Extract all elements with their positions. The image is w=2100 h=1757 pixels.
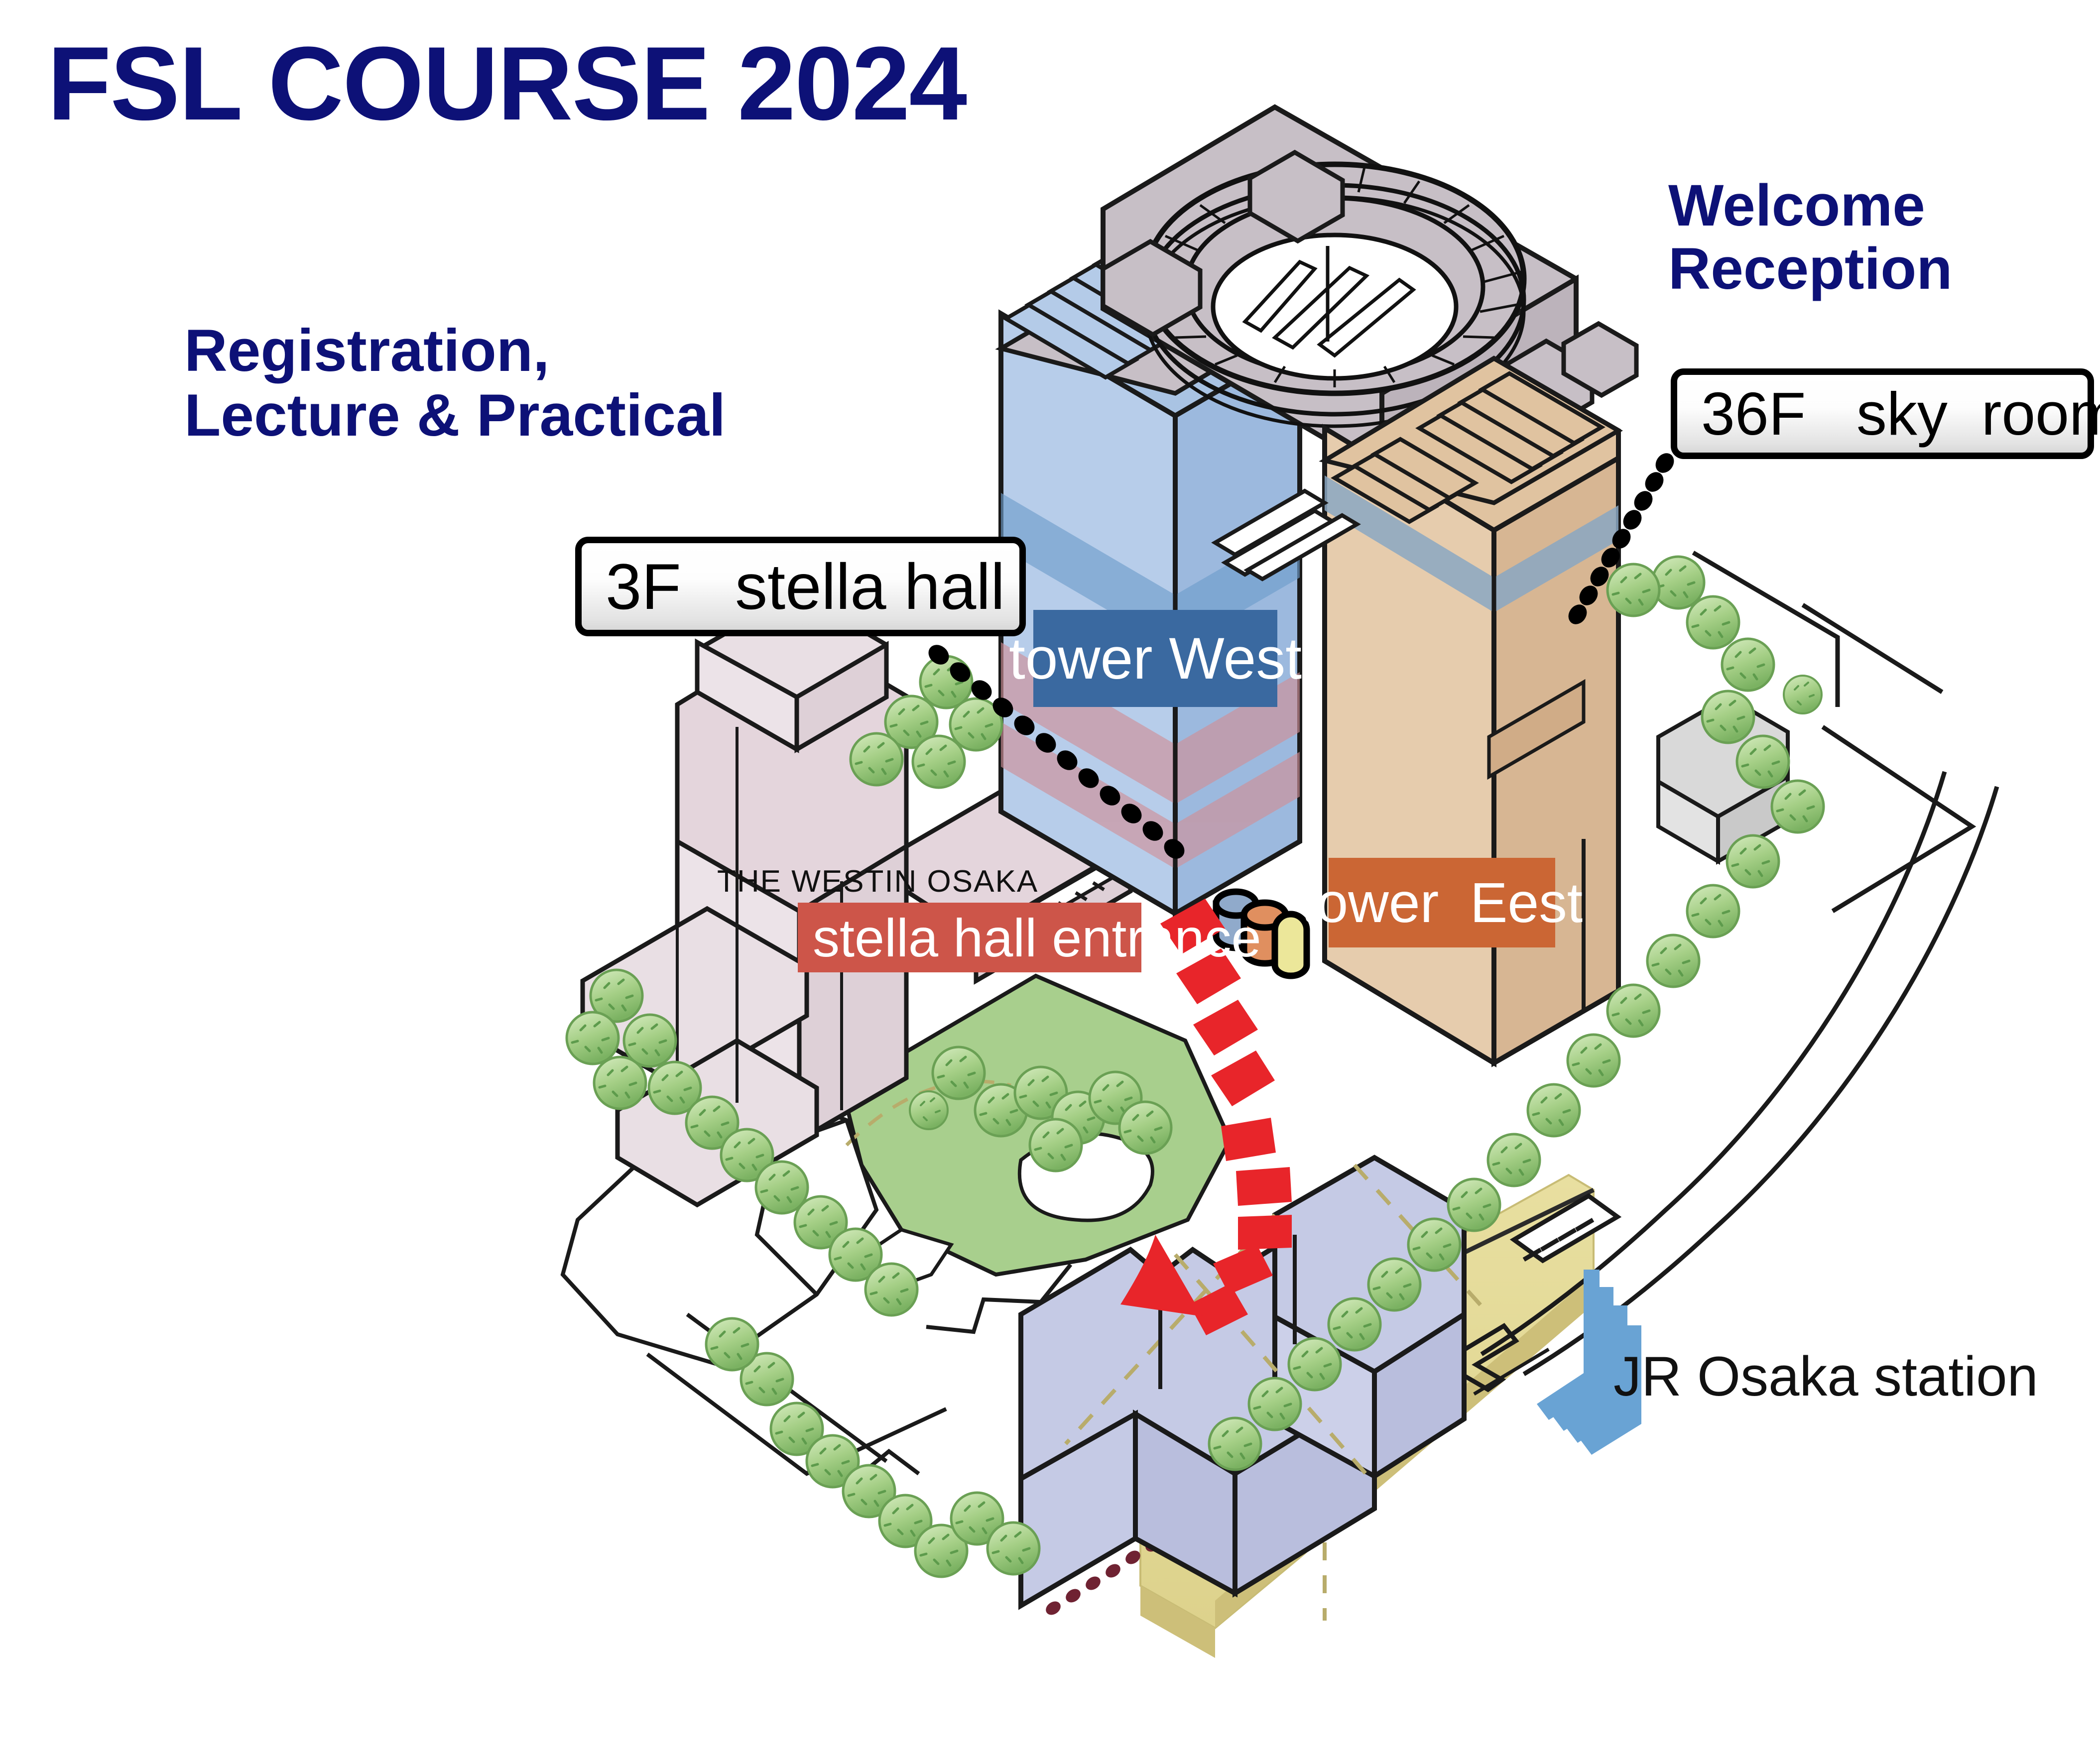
map-canvas: FSL COURSE 2024 Registration, Lecture & … — [0, 0, 2100, 1757]
welcome-reception-heading: Welcome Reception — [1668, 174, 1952, 301]
label-tower-east: tower Eest — [1329, 858, 1555, 947]
callout-stella-hall[interactable]: 3F stella hall — [575, 537, 1026, 636]
label-tower-west: tower West — [1033, 610, 1277, 707]
callout-sky-room[interactable]: 36F sky room — [1671, 368, 2094, 459]
page-title: FSL COURSE 2024 — [47, 27, 966, 140]
tower-east-building — [1325, 358, 1618, 1063]
label-stella-hall-entrance: stella hall entrance — [798, 903, 1141, 972]
registration-heading: Registration, Lecture & Practical — [184, 319, 726, 448]
label-westin-osaka: THE WESTIN OSAKA — [717, 864, 1038, 899]
label-jr-osaka-station: JR Osaka station — [1613, 1344, 2038, 1408]
